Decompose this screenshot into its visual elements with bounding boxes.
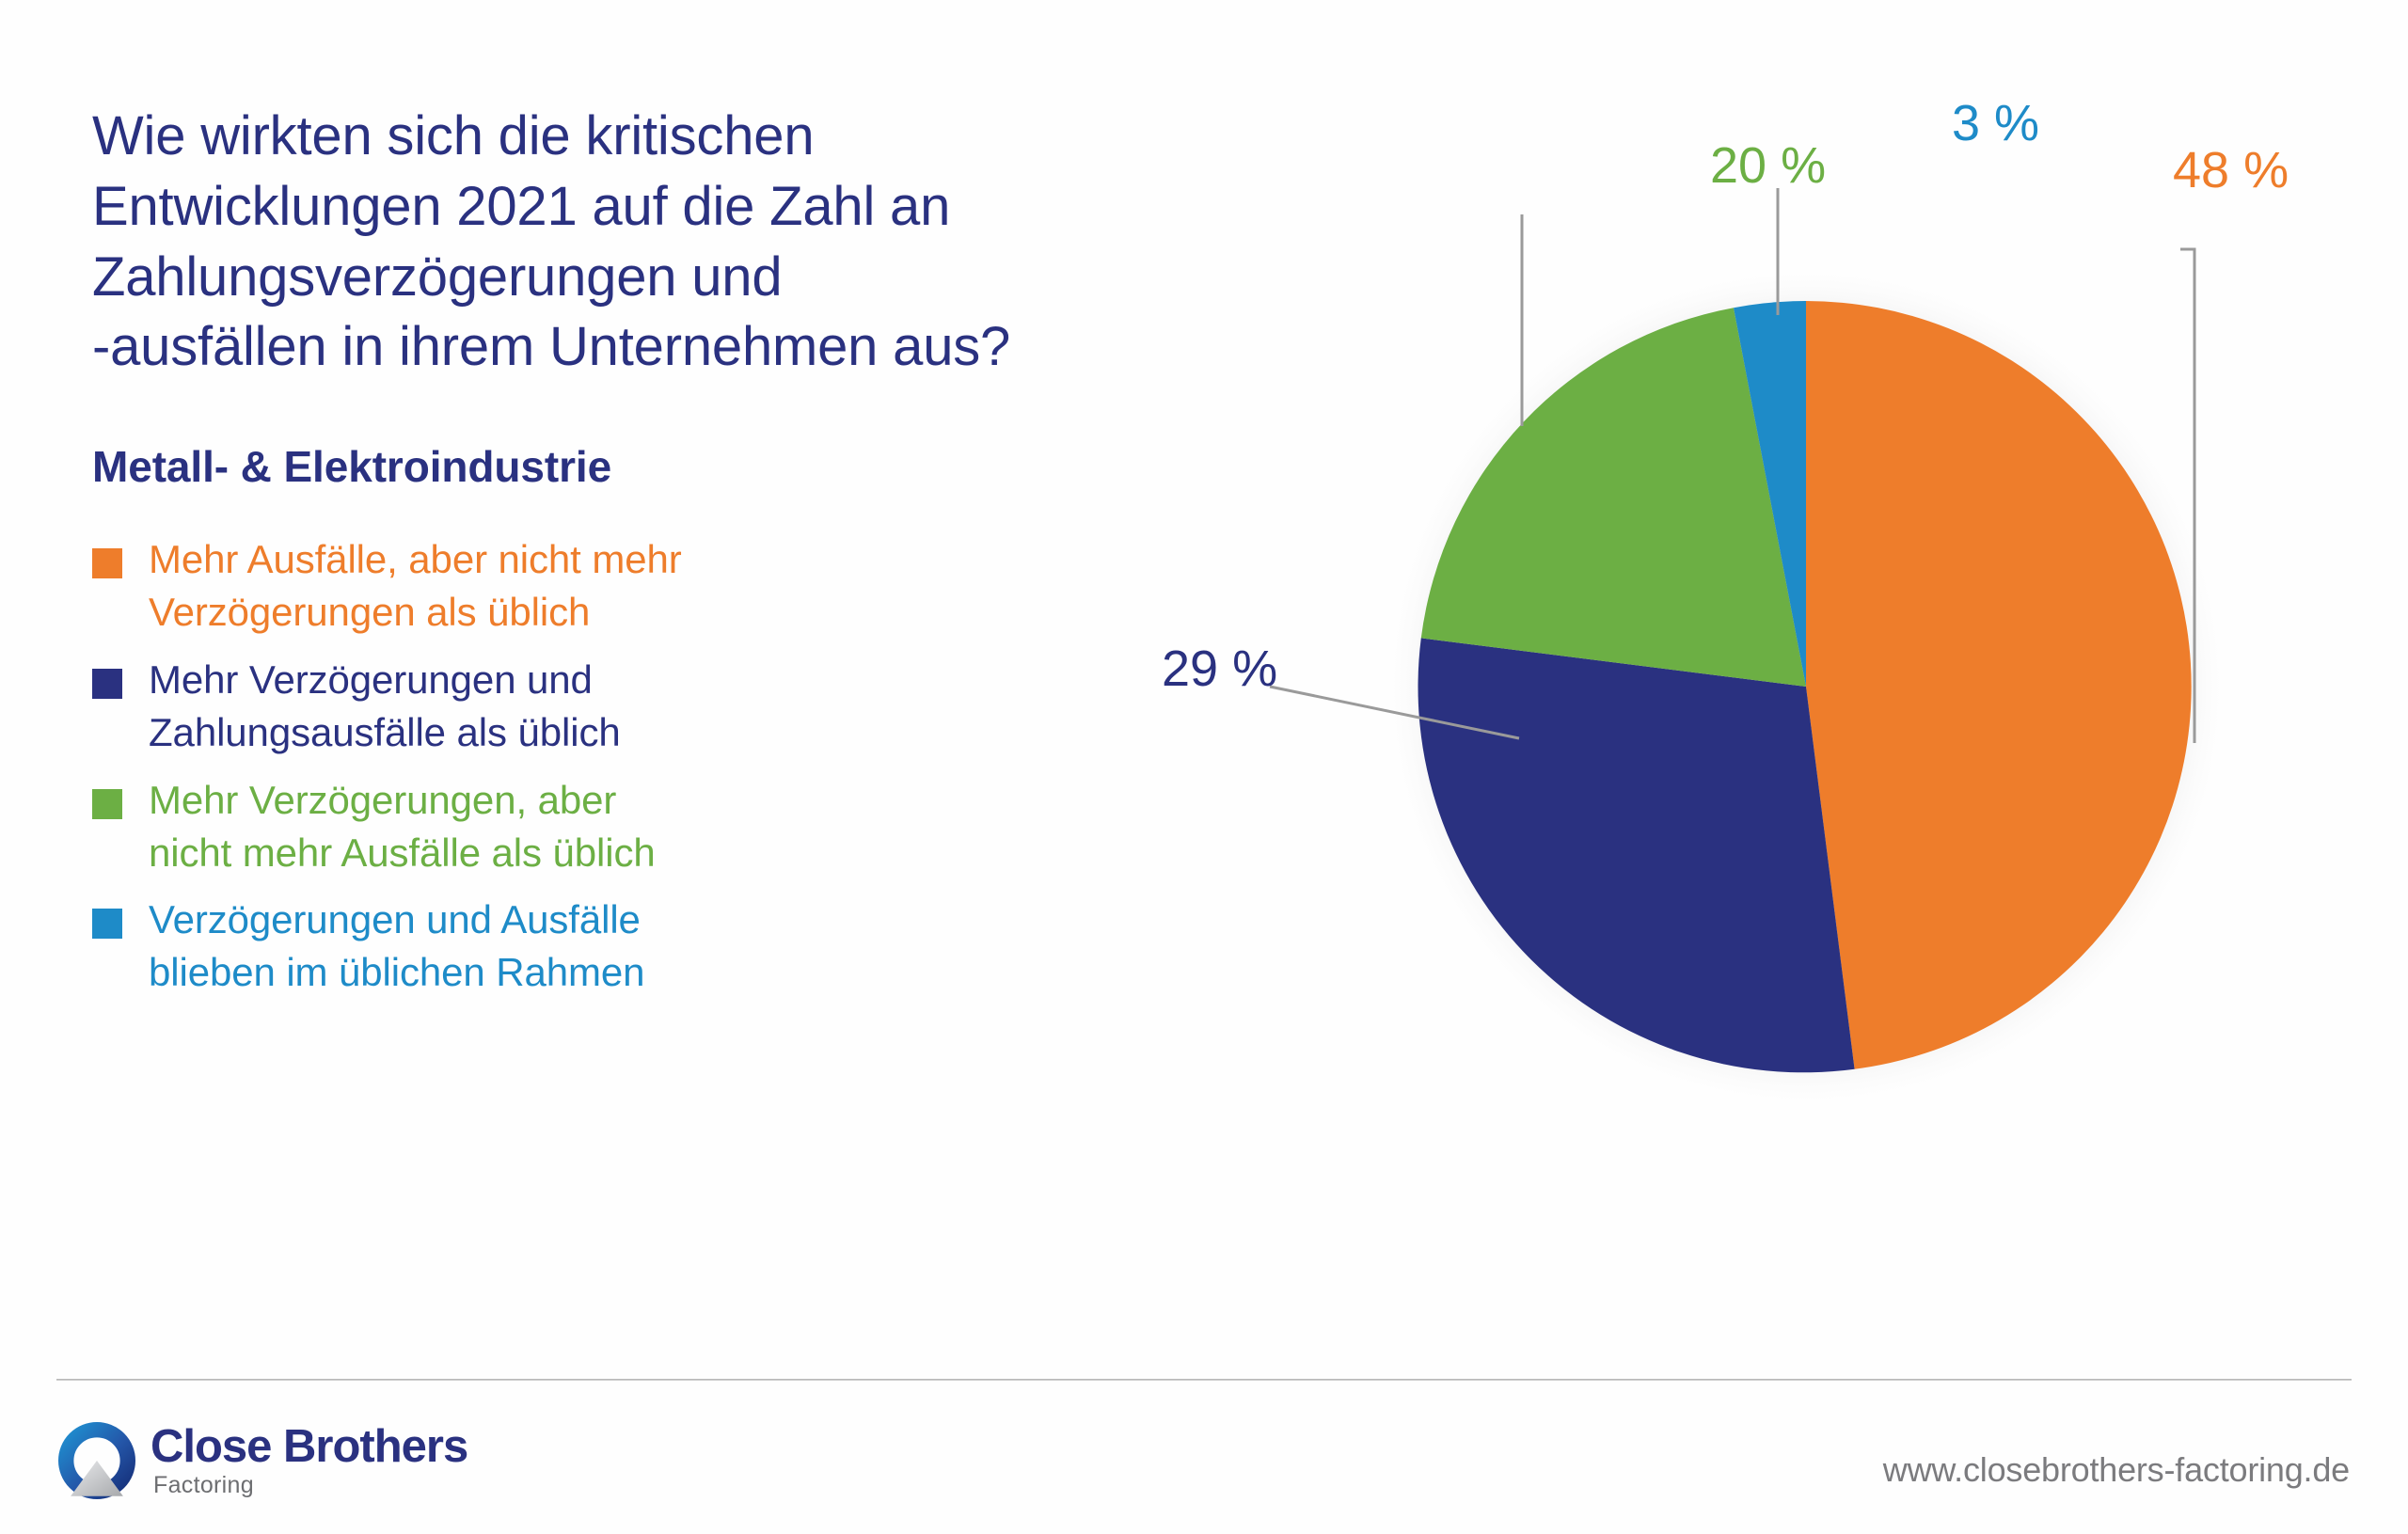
page-title: Wie wirkten sich die kritischen Entwickl… [92, 102, 1155, 383]
logo-subtitle: Factoring [153, 1474, 467, 1497]
legend-swatch-green-icon [92, 789, 122, 819]
legend-label-line-2: blieben im üblichen Rahmen [149, 946, 644, 999]
pie-value-label-darkblue: 29 % [1162, 640, 1277, 698]
legend-label-line-1: Mehr Verzögerungen, aber [149, 774, 656, 827]
pie-chart: 48 % 3 % 20 % 29 % [1213, 85, 2389, 1307]
legend-swatch-darkblue-icon [92, 669, 122, 699]
pie-chart-svg [1213, 85, 2389, 1307]
close-brothers-logo[interactable]: Close Brothers Factoring [58, 1422, 467, 1499]
legend-item-label: Mehr Verzögerungen, aber nicht mehr Ausf… [149, 774, 656, 879]
left-content-column: Wie wirkten sich die kritischen Entwickl… [92, 102, 1155, 1014]
legend-item-label: Mehr Verzögerungen und Zahlungsausfälle … [149, 654, 621, 759]
close-brothers-ring-icon [58, 1422, 135, 1499]
legend-swatch-lightblue-icon [92, 909, 122, 939]
footer-divider [56, 1379, 2352, 1381]
legend-label-line-2: Zahlungsausfälle als üblich [149, 706, 621, 759]
logo-name: Close Brothers [150, 1424, 467, 1470]
legend-swatch-orange-icon [92, 548, 122, 578]
legend-label-line-1: Verzögerungen und Ausfälle [149, 894, 644, 946]
legend-label-line-2: nicht mehr Ausfälle als üblich [149, 827, 656, 879]
footer-website-url[interactable]: www.closebrothers-factoring.de [1883, 1450, 2350, 1490]
legend-item-mehr-ausfaelle[interactable]: Mehr Ausfälle, aber nicht mehr Verzögeru… [92, 533, 1155, 639]
pie-slice-darkblue[interactable] [1418, 638, 1855, 1072]
title-line-1: Wie wirkten sich die kritischen [92, 102, 1155, 172]
chart-legend: Mehr Ausfälle, aber nicht mehr Verzögeru… [92, 533, 1155, 999]
legend-item-ueblicher-rahmen[interactable]: Verzögerungen und Ausfälle blieben im üb… [92, 894, 1155, 999]
legend-item-mehr-verzoegerungen[interactable]: Mehr Verzögerungen, aber nicht mehr Ausf… [92, 774, 1155, 879]
legend-label-line-1: Mehr Ausfälle, aber nicht mehr [149, 533, 682, 586]
sector-heading: Metall- & Elektroindustrie [92, 441, 1155, 492]
legend-item-label: Mehr Ausfälle, aber nicht mehr Verzögeru… [149, 533, 682, 639]
title-line-4: -ausfällen in ihrem Unternehmen aus? [92, 312, 1155, 383]
pie-value-label-orange: 48 % [2173, 141, 2289, 199]
legend-label-line-2: Verzögerungen als üblich [149, 586, 682, 639]
pie-value-label-green: 20 % [1710, 136, 1826, 195]
logo-wordmark: Close Brothers Factoring [150, 1424, 467, 1497]
legend-item-label: Verzögerungen und Ausfälle blieben im üb… [149, 894, 644, 999]
pie-value-label-lightblue: 3 % [1952, 94, 2039, 152]
legend-label-line-1: Mehr Verzögerungen und [149, 654, 621, 706]
legend-item-mehr-verzoegerungen-und-ausfaelle[interactable]: Mehr Verzögerungen und Zahlungsausfälle … [92, 654, 1155, 759]
title-line-2: Entwicklungen 2021 auf die Zahl an [92, 172, 1155, 243]
footer: Close Brothers Factoring www.closebrothe… [0, 1411, 2408, 1534]
title-line-3: Zahlungsverzögerungen und [92, 243, 1155, 313]
infographic-canvas: Wie wirkten sich die kritischen Entwickl… [0, 0, 2408, 1534]
